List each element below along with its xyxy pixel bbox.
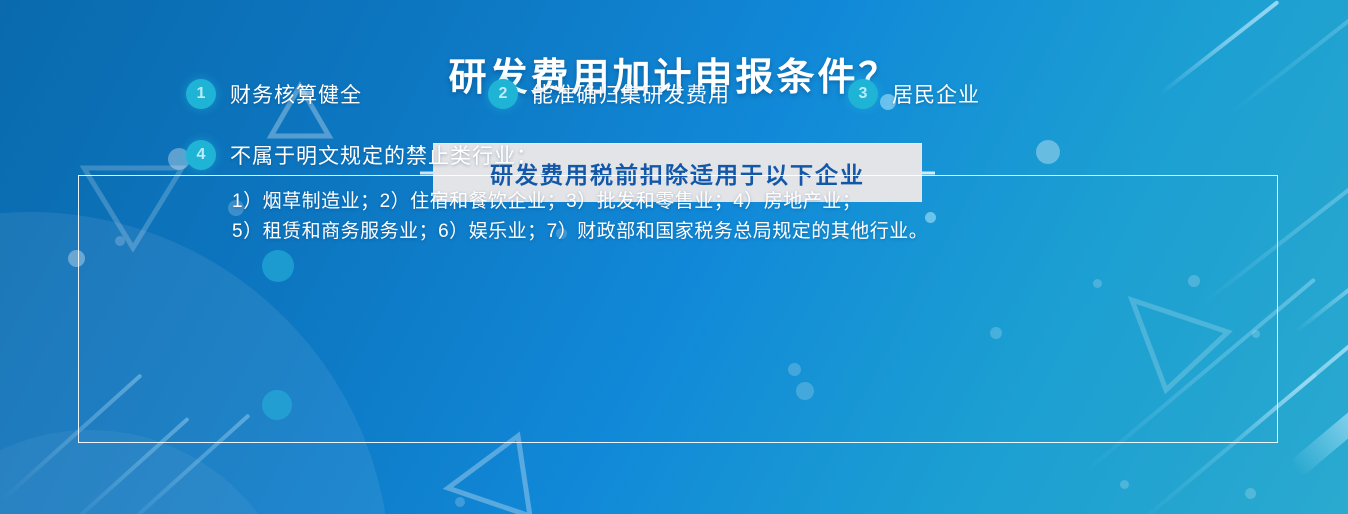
condition-item-4: 4 不属于明文规定的禁止类行业： (186, 140, 538, 170)
condition-number-badge: 2 (488, 79, 518, 109)
condition-label: 居民企业 (892, 79, 980, 109)
conditions-list: 1 财务核算健全 2 能准确归集研发费用 3 居民企业 4 不属于明文规定的禁止… (0, 0, 1348, 514)
condition-number-badge: 4 (186, 140, 216, 170)
condition-label: 能准确归集研发费用 (532, 79, 730, 109)
condition-number-badge: 1 (186, 79, 216, 109)
poster-canvas: 研发费用加计申报条件？ 研发费用税前扣除适用于以下企业 1 财务核算健全 2 能… (0, 0, 1348, 514)
condition-item-2: 2 能准确归集研发费用 (488, 79, 730, 109)
condition-label: 不属于明文规定的禁止类行业： (230, 140, 538, 170)
condition-number-badge: 3 (848, 79, 878, 109)
excluded-industries-line-2: 5）租赁和商务服务业；6）娱乐业；7）财政部和国家税务总局规定的其他行业。 (232, 216, 928, 243)
condition-item-1: 1 财务核算健全 (186, 79, 362, 109)
condition-item-3: 3 居民企业 (848, 79, 980, 109)
condition-label: 财务核算健全 (230, 79, 362, 109)
excluded-industries-line-1: 1）烟草制造业；2）住宿和餐饮企业；3）批发和零售业；4）房地产业； (232, 186, 861, 213)
